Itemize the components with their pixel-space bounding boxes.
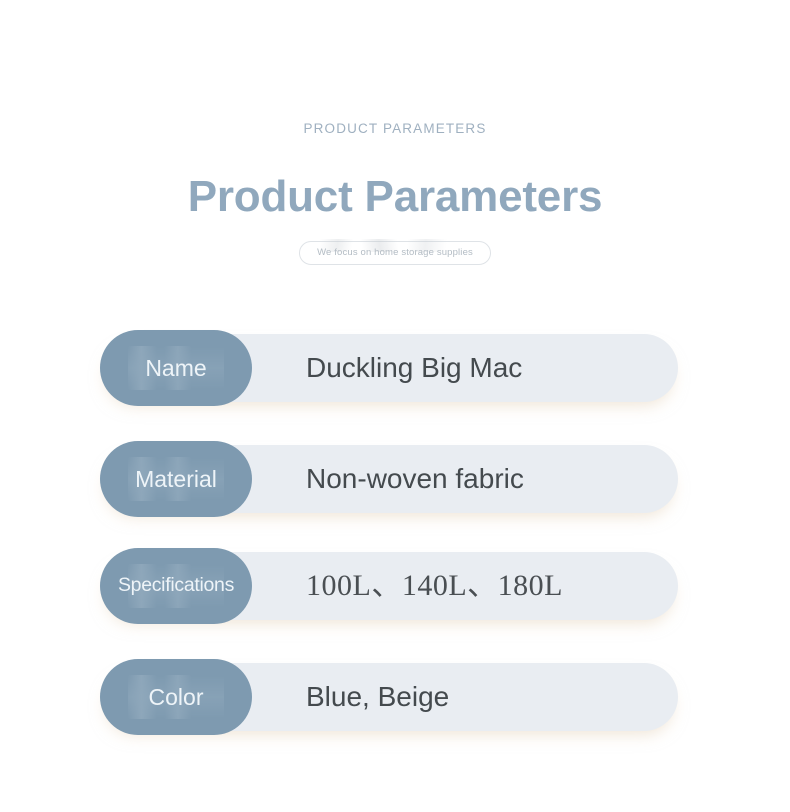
- parameter-label-pill: Material: [100, 441, 252, 517]
- page-header: PRODUCT PARAMETERS Product Parameters We…: [0, 0, 790, 265]
- parameter-label: Material: [135, 468, 217, 491]
- parameter-value: 100L、140L、180L: [306, 548, 563, 624]
- parameter-row: Name Duckling Big Mac: [100, 330, 678, 406]
- parameter-label-pill: Name: [100, 330, 252, 406]
- parameter-label: Name: [145, 357, 206, 380]
- tagline-badge-label: We focus on home storage supplies: [317, 247, 473, 258]
- parameter-row: Color Blue, Beige: [100, 659, 678, 735]
- parameter-value: Blue, Beige: [306, 659, 449, 735]
- parameter-label: Color: [149, 686, 204, 709]
- parameter-row: Specifications 100L、140L、180L: [100, 548, 678, 624]
- parameter-value: Non-woven fabric: [306, 441, 524, 517]
- parameter-label-pill: Specifications: [100, 548, 252, 624]
- eyebrow-label: PRODUCT PARAMETERS: [0, 122, 790, 136]
- parameter-label: Specifications: [118, 576, 234, 596]
- parameter-value: Duckling Big Mac: [306, 330, 522, 406]
- tagline-badge-wrap: We focus on home storage supplies: [0, 241, 790, 265]
- parameter-label-pill: Color: [100, 659, 252, 735]
- tagline-badge: We focus on home storage supplies: [299, 241, 491, 265]
- page-title: Product Parameters: [0, 175, 790, 219]
- parameter-row: Material Non-woven fabric: [100, 441, 678, 517]
- product-parameters-page: PRODUCT PARAMETERS Product Parameters We…: [0, 0, 790, 812]
